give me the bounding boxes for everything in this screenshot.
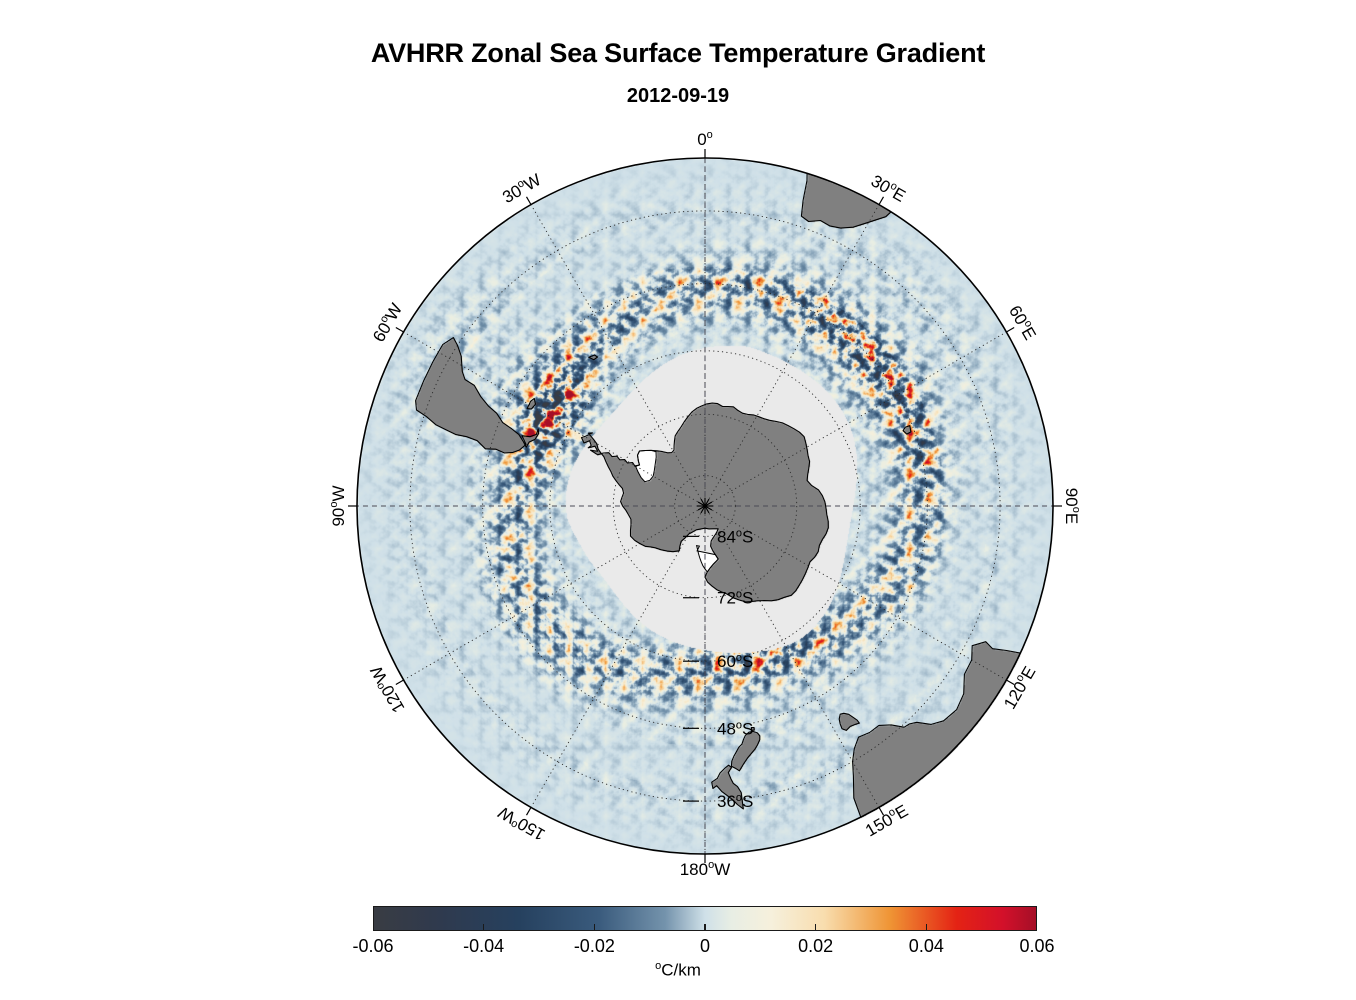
colorbar-tick-label: 0.06: [1019, 936, 1054, 957]
meridian-210: [531, 510, 703, 808]
polar-map: 0o30oE60oE90oE120oE150oE180oW150oW120oW9…: [0, 0, 1356, 1000]
coastline-africa: [796, 10, 1035, 228]
lat-label-72: 72oS: [717, 589, 753, 608]
meridian-30: [707, 205, 879, 503]
lat-label-48: 48oS: [717, 719, 753, 738]
pole-marker: [697, 498, 713, 514]
colorbar-labels: -0.06-0.04-0.0200.020.040.06: [373, 936, 1037, 960]
lat-label-36: 36oS: [717, 792, 753, 811]
lon-label-120: 120oE: [999, 663, 1040, 713]
map-overlay: 0o30oE60oE90oE120oE150oE180oW150oW120oW9…: [0, 0, 1356, 1000]
colorbar-ticks: [373, 906, 1037, 931]
coastline-kerguelen: [903, 426, 911, 434]
coastlines: [416, 10, 1064, 868]
coastline-south-georgia: [589, 355, 598, 360]
lon-tick--150: [527, 807, 532, 815]
lat-label-84: 84oS: [717, 527, 753, 546]
colorbar-tick-label: 0.04: [909, 936, 944, 957]
lon-label-90: 90oE: [1062, 488, 1083, 524]
coastline-south-america: [416, 338, 539, 453]
lon-tick-30: [879, 197, 884, 205]
colorbar-tick-label: -0.02: [574, 936, 615, 957]
lon-label--120: 120oW: [366, 662, 409, 716]
lon-tick--60: [396, 328, 404, 333]
colorbar-tick-label: 0: [700, 936, 710, 957]
lat-label-60: 60oS: [717, 652, 753, 671]
colorbar-tick: [594, 924, 595, 931]
lon-tick--120: [396, 680, 404, 685]
colorbar-tick: [926, 924, 927, 931]
colorbar-tick-label: 0.02: [798, 936, 833, 957]
graticule: [357, 158, 1053, 854]
coastline-tasmania: [839, 713, 859, 730]
outline-ronne-ice-shelf: [635, 450, 656, 481]
lon-label-150: 150oE: [862, 800, 912, 841]
coastline-madagascar: [966, 201, 1060, 249]
meridian-240: [404, 508, 702, 680]
figure-root: AVHRR Zonal Sea Surface Temperature Grad…: [0, 0, 1356, 1000]
lon-tick-60: [1006, 328, 1014, 333]
colorbar-tick-label: -0.04: [463, 936, 504, 957]
outline-ross-ice-shelf: [697, 546, 719, 572]
colorbar-unit-label: oC/km: [0, 960, 1356, 981]
lon-label--150: 150oW: [495, 802, 549, 845]
coastline-falkland: [527, 399, 535, 410]
lon-label-0: 0o: [697, 129, 713, 150]
meridian-330: [531, 205, 703, 503]
colorbar-tick: [704, 924, 705, 931]
lon-label--90: 90oW: [328, 485, 349, 526]
lon-tick--30: [527, 197, 532, 205]
colorbar-tick: [815, 924, 816, 931]
colorbar-tick-label: -0.06: [352, 936, 393, 957]
colorbar-tick: [483, 924, 484, 931]
